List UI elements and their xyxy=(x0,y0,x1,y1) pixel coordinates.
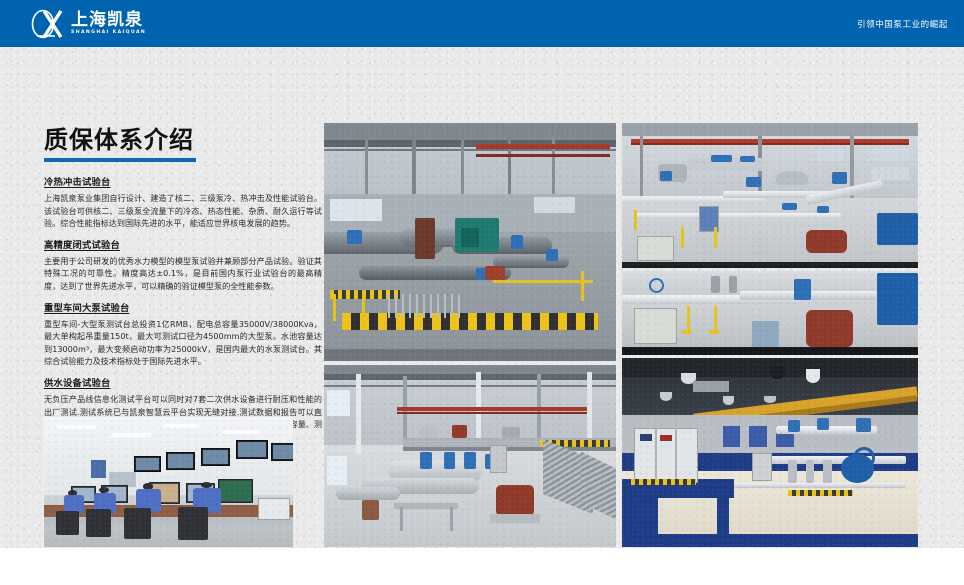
photo-pump-motor-skid xyxy=(622,271,918,355)
photo-closed-loop-test-rig xyxy=(622,123,918,268)
section-body: 上海凯泉泵业集团自行设计、建造了核二、三级泵冷、热冲击及性能试验台。该试验台可供… xyxy=(44,192,322,230)
photo-main-pump-test-hall xyxy=(324,123,616,361)
photo-heavy-workshop-test-bed xyxy=(324,365,616,547)
title-underline xyxy=(44,158,196,162)
section-cold-hot-shock: 冷热冲击试验台 上海凯泉泵业集团自行设计、建造了核二、三级泵冷、热冲击及性能试验… xyxy=(44,176,322,230)
slide-canvas: 质保体系介绍 冷热冲击试验台 上海凯泉泵业集团自行设计、建造了核二、三级泵冷、热… xyxy=(0,47,964,548)
photo-water-supply-test-bed xyxy=(622,358,918,547)
slide-root: 上海凯泉 SHANGHAI KAIQUAN 引领中国泵工业的崛起 质保体系介绍 … xyxy=(0,0,964,548)
section-heading: 冷热冲击试验台 xyxy=(44,176,322,190)
header-bar: 上海凯泉 SHANGHAI KAIQUAN 引领中国泵工业的崛起 xyxy=(0,0,964,47)
header-tagline: 引领中国泵工业的崛起 xyxy=(857,18,948,30)
section-body: 主要用于公司研发的优秀水力模型的模型泵试验并兼顾部分产品试验。验证其特殊工况的可… xyxy=(44,255,322,293)
section-heading: 重型车间大泵试验台 xyxy=(44,302,322,316)
section-body: 重型车间-大型泵测试台总投资1亿RMB，配电总容量35000V/38000Kva… xyxy=(44,318,322,368)
section-heading: 供水设备试验台 xyxy=(44,377,322,391)
photo-control-room xyxy=(44,417,293,547)
logo-text-cn: 上海凯泉 xyxy=(71,11,146,29)
section-heading: 高精度闭式试验台 xyxy=(44,239,322,253)
section-high-precision-closed: 高精度闭式试验台 主要用于公司研发的优秀水力模型的模型泵试验并兼顾部分产品试验。… xyxy=(44,239,322,293)
section-heavy-workshop: 重型车间大泵试验台 重型车间-大型泵测试台总投资1亿RMB，配电总容量35000… xyxy=(44,302,322,368)
kaiquan-logo-mark-icon xyxy=(31,9,65,39)
text-column: 质保体系介绍 冷热冲击试验台 上海凯泉泵业集团自行设计、建造了核二、三级泵冷、热… xyxy=(44,125,322,452)
brand-logo[interactable]: 上海凯泉 SHANGHAI KAIQUAN xyxy=(31,9,146,39)
logo-text-en: SHANGHAI KAIQUAN xyxy=(71,29,146,36)
page-title: 质保体系介绍 xyxy=(44,125,322,155)
